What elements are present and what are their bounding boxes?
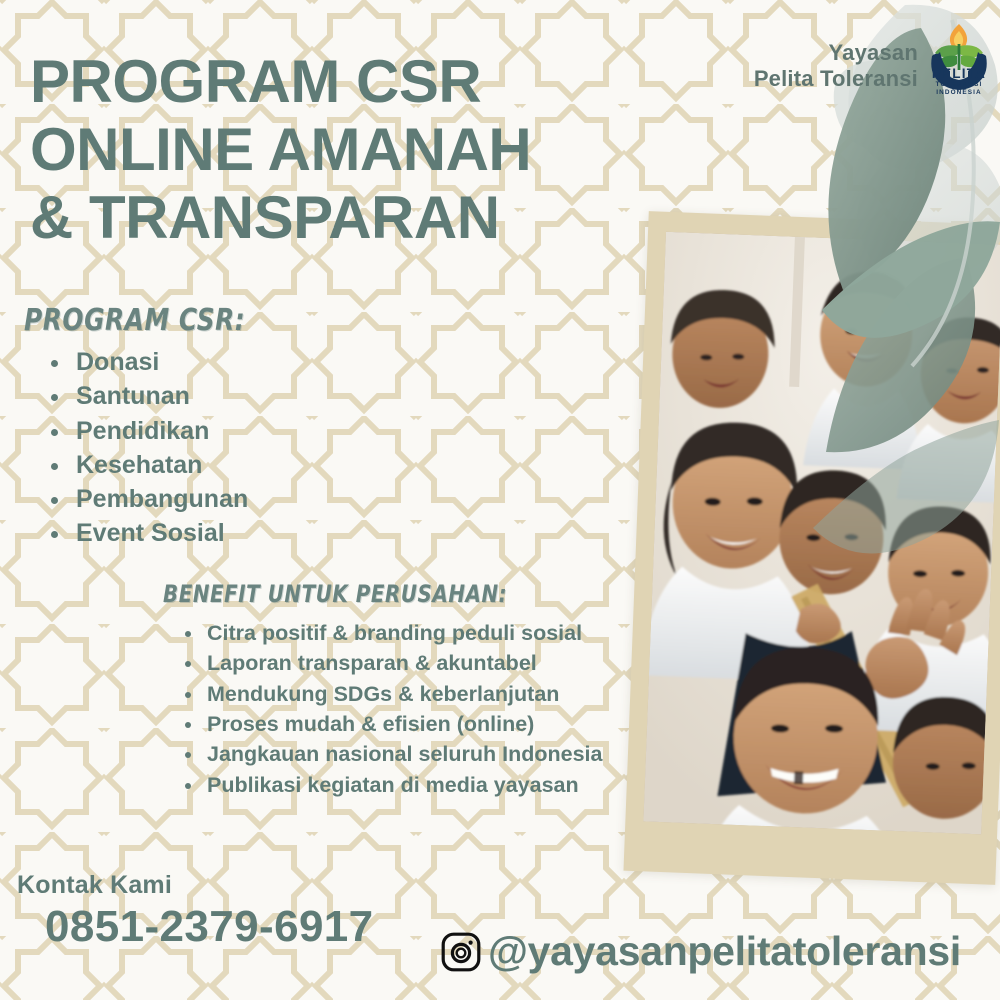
organization-name: Yayasan Pelita Toleransi xyxy=(754,40,918,92)
pelita-logo-icon: PELITA TOLERANSI INDONESIA xyxy=(926,22,992,110)
instagram-icon xyxy=(440,931,482,973)
page-title: PROGRAM CSR ONLINE AMANAH & TRANSPARAN xyxy=(30,48,630,251)
contact-phone[interactable]: 0851-2379-6917 xyxy=(45,902,374,952)
list-item: Citra positif & branding peduli sosial xyxy=(204,618,602,648)
list-item: Kesehatan xyxy=(72,448,248,482)
list-item: Santunan xyxy=(72,379,248,413)
benefit-list: Citra positif & branding peduli sosial L… xyxy=(180,618,602,800)
list-item: Mendukung SDGs & keberlanjutan xyxy=(204,679,602,709)
logo-sub1: TOLERANSI xyxy=(926,81,992,88)
list-item: Pendidikan xyxy=(72,414,248,448)
list-item: Pembangunan xyxy=(72,482,248,516)
list-item: Donasi xyxy=(72,345,248,379)
title-line-1: PROGRAM CSR xyxy=(30,48,630,116)
poster-canvas: Yayasan Pelita Toleransi PELI xyxy=(0,0,1000,1000)
logo-sub2: INDONESIA xyxy=(926,89,992,96)
program-csr-heading: PROGRAM CSR: xyxy=(24,303,245,338)
contact-label: Kontak Kami xyxy=(17,871,172,900)
list-item: Proses mudah & efisien (online) xyxy=(204,709,602,739)
organization-name-line1: Yayasan xyxy=(754,40,918,66)
brand-logo-block: Yayasan Pelita Toleransi PELI xyxy=(754,22,992,110)
benefit-heading: BENEFIT UNTUK PERUSAHAN: xyxy=(163,580,507,608)
children-photo xyxy=(643,232,1000,835)
list-item: Laporan transparan & akuntabel xyxy=(204,648,602,678)
list-item: Publikasi kegiatan di media yayasan xyxy=(204,770,602,800)
program-csr-list: Donasi Santunan Pendidikan Kesehatan Pem… xyxy=(46,345,248,551)
children-photo-frame xyxy=(623,211,1000,885)
list-item: Jangkauan nasional seluruh Indonesia xyxy=(204,739,602,769)
instagram-handle: @yayasanpelitatoleransi xyxy=(488,928,961,975)
title-line-2: ONLINE AMANAH xyxy=(30,116,630,184)
instagram-row[interactable]: @yayasanpelitatoleransi xyxy=(440,928,961,975)
list-item: Event Sosial xyxy=(72,516,248,550)
title-line-3: & TRANSPARAN xyxy=(30,184,630,252)
logo-name: PELITA xyxy=(926,66,992,81)
organization-name-line2: Pelita Toleransi xyxy=(754,66,918,92)
